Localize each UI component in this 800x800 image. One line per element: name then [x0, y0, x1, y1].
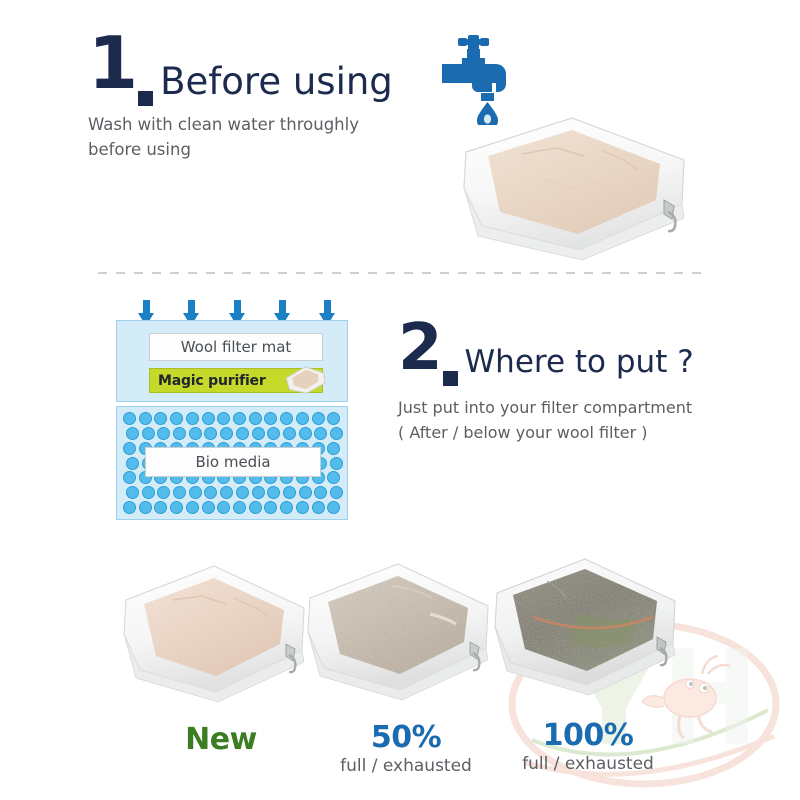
- step-1-dot-wrap: [136, 34, 160, 106]
- product-bag-stage-new: [116, 558, 316, 708]
- bio-media-dot: [157, 427, 170, 440]
- bio-media-dot: [283, 486, 296, 499]
- filter-chamber-lower: Bio media: [116, 406, 348, 520]
- stage-caption-half: 50% full / exhausted: [306, 720, 506, 776]
- section-before-using: 1 Before using Wash with clean water thr…: [0, 0, 800, 262]
- bio-media-dot: [123, 501, 136, 514]
- stage-sublabel-exhausted: full / exhausted: [488, 754, 688, 774]
- stage-caption-exhausted: 100% full / exhausted: [488, 718, 688, 774]
- stage-label-new: New: [121, 722, 321, 757]
- bio-media-dot: [267, 486, 280, 499]
- layer-bio-media: Bio media: [145, 447, 321, 477]
- bio-media-dot: [267, 427, 280, 440]
- bio-media-dot: [330, 457, 343, 470]
- stage-sublabel-half: full / exhausted: [306, 756, 506, 776]
- step-2-heading: 2 Where to put ?: [398, 322, 694, 386]
- product-bag-stage-half: [300, 556, 500, 706]
- bio-media-dot: [249, 412, 262, 425]
- product-bag-image-new: [452, 108, 697, 263]
- bio-media-dot: [170, 412, 183, 425]
- bio-media-dot: [252, 427, 265, 440]
- bio-media-dot: [126, 457, 139, 470]
- bio-media-dot: [173, 486, 186, 499]
- layer-magic-purifier: Magic purifier: [149, 368, 323, 393]
- bio-media-dot: [217, 412, 230, 425]
- step-1-description-line2: before using: [88, 138, 359, 163]
- step-1-title: Before using: [160, 60, 393, 103]
- bio-media-dot: [280, 501, 293, 514]
- bio-media-dot: [327, 442, 340, 455]
- bio-media-dot: [154, 501, 167, 514]
- bio-media-dot: [264, 412, 277, 425]
- layer-magic-purifier-label: Magic purifier: [150, 373, 266, 389]
- bio-media-dot: [296, 412, 309, 425]
- step-2-description-line1: Just put into your filter compartment: [398, 396, 692, 421]
- bio-media-dot: [312, 501, 325, 514]
- section-divider: [98, 272, 706, 274]
- step-1-heading: 1 Before using: [88, 34, 393, 106]
- stage-caption-new: New: [121, 722, 321, 758]
- bio-media-dot: [296, 501, 309, 514]
- bio-media-dot: [330, 427, 343, 440]
- stage-label-half: 50%: [306, 720, 506, 755]
- bio-media-dot: [123, 412, 136, 425]
- bio-media-dot: [202, 501, 215, 514]
- step-number-dot: [443, 371, 458, 386]
- bio-media-dot: [233, 412, 246, 425]
- bio-media-dot: [327, 501, 340, 514]
- bio-media-dot: [204, 427, 217, 440]
- bio-media-dot: [327, 471, 340, 484]
- bio-media-dot: [202, 412, 215, 425]
- bio-media-dot: [280, 412, 293, 425]
- bio-media-dot: [330, 486, 343, 499]
- bio-media-dot: [236, 486, 249, 499]
- bio-media-dot: [204, 486, 217, 499]
- bio-media-dot: [139, 412, 152, 425]
- layer-wool-filter-mat: Wool filter mat: [149, 333, 323, 361]
- bio-media-dot: [154, 412, 167, 425]
- bio-media-dot: [186, 412, 199, 425]
- bio-media-dot: [283, 427, 296, 440]
- bio-media-dot: [314, 427, 327, 440]
- magic-purifier-bag-icon: [281, 360, 331, 400]
- bio-media-dot: [139, 501, 152, 514]
- bio-media-dot: [126, 427, 139, 440]
- bio-media-dot: [220, 486, 233, 499]
- bio-media-dot: [142, 427, 155, 440]
- bio-media-dot: [312, 412, 325, 425]
- step-2-dot-wrap: [441, 322, 465, 386]
- bio-media-dot: [186, 501, 199, 514]
- stage-label-exhausted: 100%: [488, 718, 688, 753]
- bio-media-dot: [220, 427, 233, 440]
- bio-media-dot: [314, 486, 327, 499]
- bio-media-dot: [236, 427, 249, 440]
- bio-media-dot: [252, 486, 265, 499]
- bio-media-dot: [217, 501, 230, 514]
- bio-media-dot: [299, 427, 312, 440]
- bio-media-dot: [299, 486, 312, 499]
- bio-media-dot: [123, 471, 136, 484]
- bio-media-dot: [327, 412, 340, 425]
- step-number-dot: [138, 91, 153, 106]
- bio-media-dot: [142, 486, 155, 499]
- step-1-number: 1: [88, 34, 136, 93]
- bio-media-dot: [233, 501, 246, 514]
- bio-media-dot: [249, 501, 262, 514]
- step-2-number: 2: [398, 322, 441, 374]
- step-2-description: Just put into your filter compartment ( …: [398, 396, 692, 446]
- step-2-title: Where to put ?: [465, 344, 694, 380]
- bio-media-dot: [157, 486, 170, 499]
- step-1-description-line1: Wash with clean water throughly: [88, 113, 359, 138]
- bio-media-dot: [264, 501, 277, 514]
- filter-diagram: Wool filter mat Magic purifier Bio media: [108, 300, 358, 525]
- bio-media-dot: [189, 486, 202, 499]
- step-1-description: Wash with clean water throughly before u…: [88, 113, 359, 163]
- bio-media-dot: [170, 501, 183, 514]
- bio-media-dot: [189, 427, 202, 440]
- step-2-description-line2: ( After / below your wool filter ): [398, 421, 692, 446]
- filter-chamber-upper: Wool filter mat Magic purifier: [116, 320, 348, 402]
- bio-media-dot: [126, 486, 139, 499]
- bio-media-dot: [123, 442, 136, 455]
- product-bag-stage-exhausted: [487, 551, 687, 701]
- bio-media-dot: [173, 427, 186, 440]
